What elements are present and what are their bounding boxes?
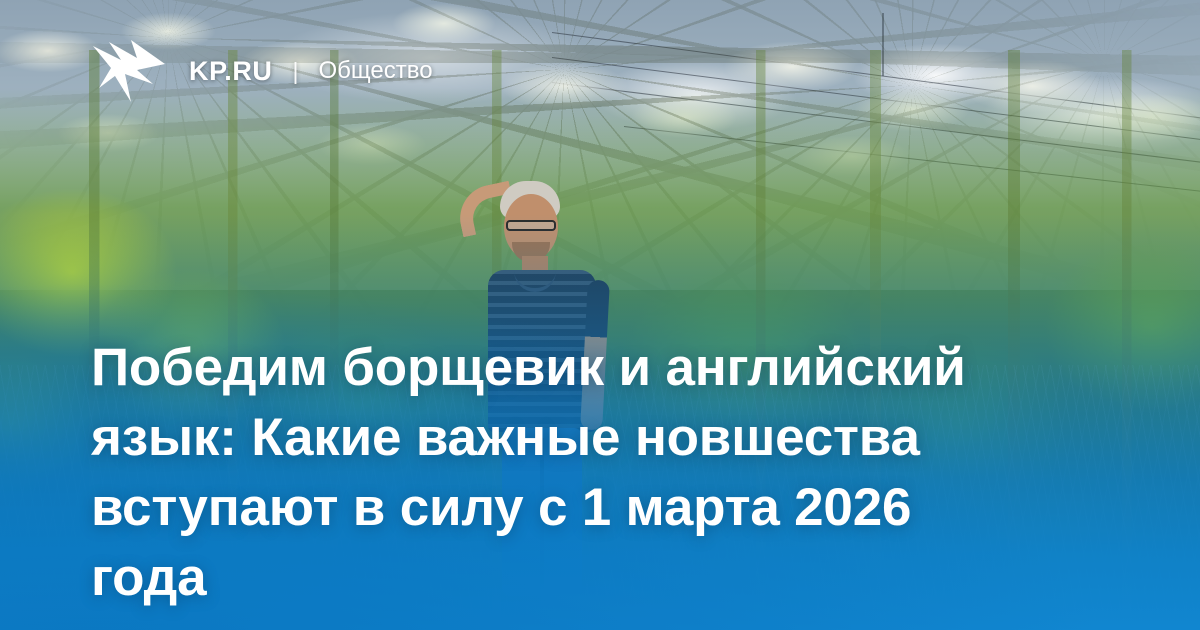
brand-separator: | — [293, 60, 299, 83]
headline-line: вступают в силу с 1 марта 2026 — [91, 473, 1081, 543]
brand-lockup: KP.RU | Общество — [189, 58, 433, 85]
swallow-bird-icon[interactable] — [91, 40, 167, 102]
headline-line: Победим борщевик и английский — [91, 333, 1081, 403]
share-card: KP.RU | Общество Победим борщевик и англ… — [0, 0, 1200, 630]
brand-name[interactable]: KP.RU — [189, 58, 273, 85]
headline-line: язык: Какие важные новшества — [91, 403, 1081, 473]
article-headline: Победим борщевик и английский язык: Каки… — [91, 333, 1081, 613]
headline-line: года — [91, 543, 1081, 613]
rubric-label[interactable]: Общество — [319, 59, 433, 83]
brand-header: KP.RU | Общество — [91, 40, 433, 102]
